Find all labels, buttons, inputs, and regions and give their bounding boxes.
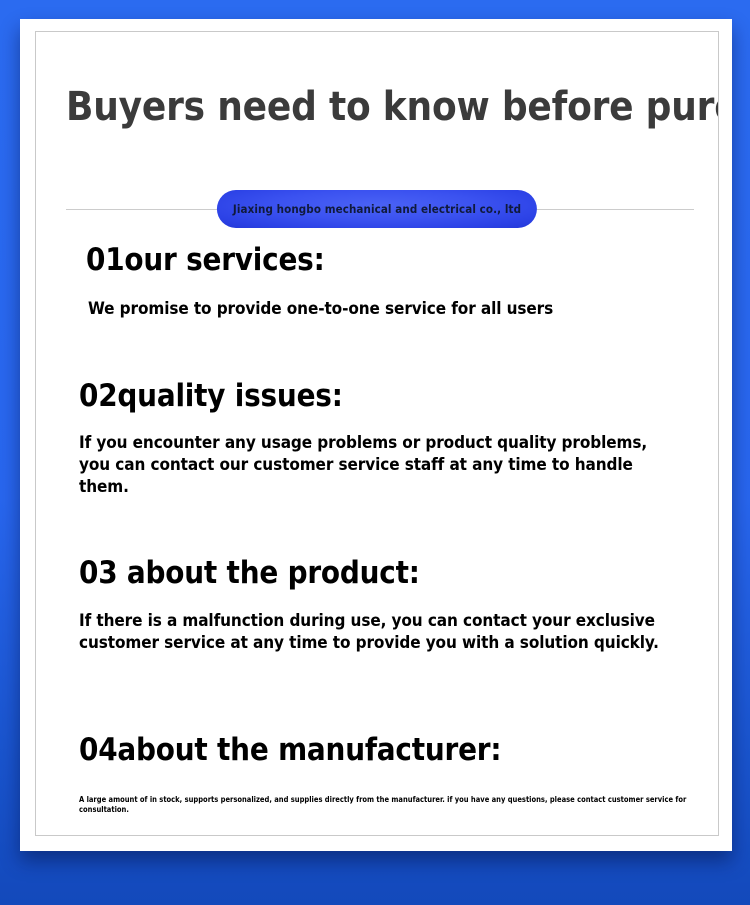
company-name-badge: Jiaxing hongbo mechanical and electrical… <box>217 190 537 228</box>
section-our-services: 01our services: We promise to provide on… <box>36 244 718 321</box>
company-divider-row: Jiaxing hongbo mechanical and electrical… <box>36 180 718 240</box>
section-about-the-manufacturer: 04about the manufacturer: A large amount… <box>36 734 718 815</box>
section-body-04: A large amount of in stock, supports per… <box>79 795 719 815</box>
section-body-01: We promise to provide one-to-one service… <box>88 299 648 321</box>
section-heading-01: 01our services: <box>86 244 718 277</box>
section-heading-03: 03 about the product: <box>79 557 718 590</box>
section-body-02: If you encounter any usage problems or p… <box>79 433 679 498</box>
poster-inner-frame: Buyers need to know before purchasing Ji… <box>35 31 719 836</box>
page-title: Buyers need to know before purchasing <box>66 87 716 127</box>
section-heading-04: 04about the manufacturer: <box>79 734 718 767</box>
section-body-03: If there is a malfunction during use, yo… <box>79 611 704 655</box>
section-about-the-product: 03 about the product: If there is a malf… <box>36 557 718 655</box>
section-quality-issues: 02quality issues: If you encounter any u… <box>36 380 718 499</box>
section-heading-02: 02quality issues: <box>79 380 718 413</box>
poster-sheet: Buyers need to know before purchasing Ji… <box>20 19 732 851</box>
poster-canvas: Buyers need to know before purchasing Ji… <box>0 0 750 905</box>
